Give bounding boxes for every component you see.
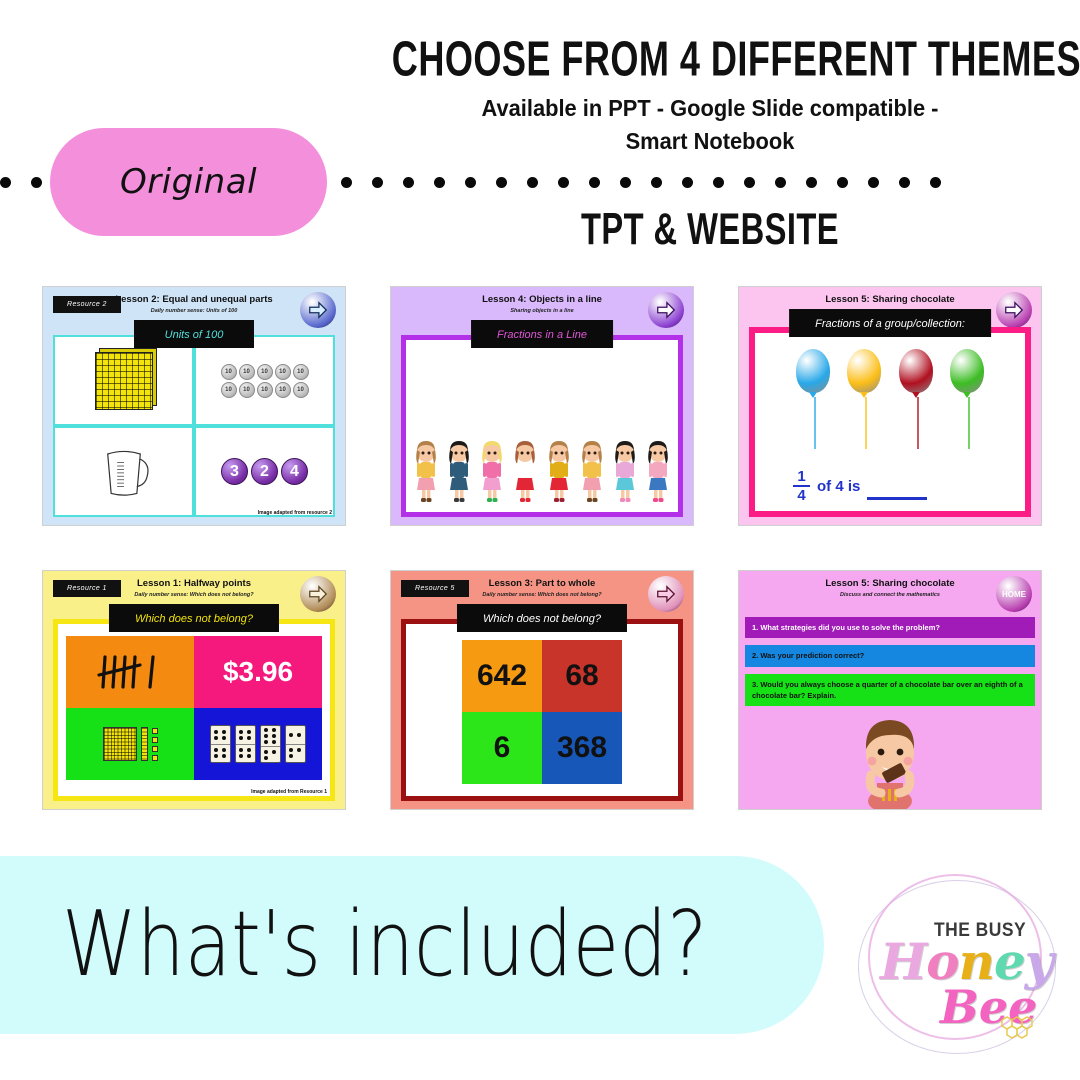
coin-ten: 10 <box>257 364 273 380</box>
domino-pip <box>222 730 226 734</box>
slide-thumbnail[interactable]: Resource 1 Lesson 1: Halfway points Dail… <box>42 570 346 810</box>
quadrant-cell-jug <box>53 426 194 517</box>
coin-group: 10101010101010101010 <box>221 364 309 398</box>
domino-pip <box>264 728 268 732</box>
balloon-body <box>899 349 933 393</box>
quadrant-grid: $3.96 <box>66 636 322 780</box>
unit-cube-icon <box>152 755 158 761</box>
unit-cubes-group <box>152 728 158 761</box>
slide-banner-text: Which does not belong? <box>135 613 253 625</box>
divider-dot <box>713 177 724 188</box>
domino-pip <box>214 730 218 734</box>
fraction-numerator: 1 <box>797 469 805 485</box>
divider-dot <box>465 177 476 188</box>
domino-tile <box>235 725 256 763</box>
divider-dot <box>651 177 662 188</box>
unit-cube-icon <box>152 728 158 734</box>
number-value: 6 <box>494 731 511 765</box>
quadrant-cell-number: 6 <box>462 712 542 784</box>
number-value: 368 <box>557 731 607 765</box>
domino-pip <box>239 730 243 734</box>
domino-pip <box>222 736 226 740</box>
domino-pip <box>247 736 251 740</box>
quadrant-grid: 642 68 6 368 <box>462 640 622 784</box>
quadrant-cell-number-balls: 324 <box>194 426 335 517</box>
coin-ten: 10 <box>239 382 255 398</box>
divider-dot <box>403 177 414 188</box>
divider-dot <box>0 177 11 188</box>
domino-pip <box>214 736 218 740</box>
child-figure <box>611 438 639 504</box>
fraction-one-quarter: 1 4 <box>793 469 810 503</box>
domino-pip <box>222 754 226 758</box>
child-figure <box>445 438 473 504</box>
balloon <box>950 349 988 449</box>
fraction-denominator: 4 <box>797 487 805 503</box>
balloon <box>847 349 885 449</box>
money-value: $3.96 <box>223 656 293 688</box>
slide-banner: Fractions of a group/collection: <box>789 309 991 337</box>
fraction-equation: 1 4 of 4 is <box>793 469 927 503</box>
child-figure <box>578 438 606 504</box>
domino-half <box>236 745 255 763</box>
balloon <box>796 349 834 449</box>
quadrant-cell-number: 642 <box>462 640 542 712</box>
quadrant-cell-flat-block <box>53 335 194 426</box>
whats-included-text: What's included? <box>62 893 707 997</box>
child-figure <box>511 438 539 504</box>
domino-half <box>261 726 280 747</box>
slide-title: Lesson 2: Equal and unequal parts <box>43 294 345 305</box>
divider-dot <box>434 177 445 188</box>
divider-dot <box>620 177 631 188</box>
slide-banner: Which does not belong? <box>457 604 627 632</box>
slide-thumbnail[interactable]: Lesson 5: Sharing chocolate Discuss and … <box>738 570 1042 810</box>
coin-ten: 10 <box>239 364 255 380</box>
domino-pip <box>272 750 276 754</box>
unit-cube-icon <box>152 737 158 743</box>
slide-banner-text: Units of 100 <box>165 329 224 341</box>
brand-logo: THE BUSY Honey Bee <box>852 872 1070 1072</box>
boy-eating-chocolate-illustration <box>851 705 929 809</box>
next-arrow-button[interactable] <box>648 292 684 328</box>
whats-included-banner: What's included? <box>0 856 824 1034</box>
domino-pip <box>264 734 268 738</box>
domino-pip <box>247 730 251 734</box>
domino-pip <box>264 750 268 754</box>
unit-cube-icon <box>152 746 158 752</box>
slide-title: Lesson 5: Sharing chocolate <box>739 578 1041 589</box>
slide-banner: Units of 100 <box>134 320 254 348</box>
quadrant-grid: 10101010101010101010 <box>53 335 335 517</box>
theme-badge-original[interactable]: Original <box>50 128 327 236</box>
domino-tile <box>260 725 281 763</box>
balloon-group <box>789 349 995 449</box>
coin-ten: 10 <box>221 382 237 398</box>
balloon-body <box>847 349 881 393</box>
domino-pip <box>239 754 243 758</box>
arrow-right-icon <box>307 299 329 321</box>
domino-pip <box>297 733 301 737</box>
slide-board: 642 68 6 368 <box>401 619 683 801</box>
ten-rod-icon <box>141 727 148 761</box>
coin-ten: 10 <box>275 364 291 380</box>
balloon-body <box>950 349 984 393</box>
divider-dot <box>31 177 42 188</box>
slide-thumbnail[interactable]: Resource 2 Lesson 2: Equal and unequal p… <box>42 286 346 526</box>
coin-ten: 10 <box>257 382 273 398</box>
slide-credit: Image adapted from resource 2 <box>258 510 332 516</box>
coin-ten: 10 <box>293 364 309 380</box>
slide-board <box>401 335 683 517</box>
platforms-title: TPT & WEBSITE <box>392 205 1028 256</box>
divider-dot <box>527 177 538 188</box>
page-title: CHOOSE FROM 4 DIFFERENT THEMES: <box>392 34 1028 84</box>
hundred-flat-icon <box>95 352 153 410</box>
slide-thumbnail[interactable]: Resource 5 Lesson 3: Part to whole Daily… <box>390 570 694 810</box>
domino-half <box>261 747 280 762</box>
honeycomb-icon <box>996 1016 1036 1044</box>
subtitle-line-2: Smart Notebook <box>359 125 1062 158</box>
divider-dot <box>589 177 600 188</box>
divider-dot <box>837 177 848 188</box>
question-bar: 2. Was your prediction correct? <box>745 645 1035 666</box>
divider-dot <box>775 177 786 188</box>
domino-pip <box>289 754 293 758</box>
next-arrow-button[interactable] <box>300 292 336 328</box>
slide-board: 10101010101010101010 <box>53 335 335 517</box>
quadrant-cell-money: $3.96 <box>194 636 322 708</box>
slide-preview-grid: Resource 2 Lesson 2: Equal and unequal p… <box>42 286 1042 810</box>
question-list: 1. What strategies did you use to solve … <box>739 617 1041 809</box>
arrow-right-icon <box>655 299 677 321</box>
header-block: CHOOSE FROM 4 DIFFERENT THEMES: Availabl… <box>340 34 1080 159</box>
slide-title: Lesson 4: Objects in a line <box>391 294 693 305</box>
slide-title: Lesson 5: Sharing chocolate <box>739 294 1041 305</box>
quadrant-cell-coins: 10101010101010101010 <box>194 335 335 426</box>
answer-blank[interactable] <box>867 497 927 500</box>
next-arrow-button[interactable] <box>996 292 1032 328</box>
domino-pip <box>272 728 276 732</box>
slide-title: Lesson 3: Part to whole <box>391 578 693 589</box>
domino-half <box>286 726 305 745</box>
coin-ten: 10 <box>293 382 309 398</box>
home-button[interactable]: HOME <box>996 576 1032 612</box>
logo-letter: H <box>880 932 926 991</box>
divider-dot <box>372 177 383 188</box>
divider-dot <box>496 177 507 188</box>
balloon-body <box>796 349 830 393</box>
subtitle-line-1: Available in PPT - Google Slide compatib… <box>359 92 1062 125</box>
slide-banner-text: Fractions of a group/collection: <box>815 318 965 330</box>
domino-pip <box>214 748 218 752</box>
divider-dot <box>868 177 879 188</box>
domino-pip <box>272 734 276 738</box>
domino-pip <box>214 754 218 758</box>
quadrant-cell-number: 68 <box>542 640 622 712</box>
home-button-label: HOME <box>1002 590 1026 599</box>
number-value: 642 <box>477 659 527 693</box>
question-bar: 3. Would you always choose a quarter of … <box>745 674 1035 707</box>
domino-pip <box>264 740 268 744</box>
theme-badge-label: Original <box>120 162 257 202</box>
tally-marks-icon <box>95 651 165 693</box>
number-ball: 3 <box>221 458 248 485</box>
slide-thumbnail[interactable]: Lesson 5: Sharing chocolate Fractions of… <box>738 286 1042 526</box>
divider-dot <box>341 177 352 188</box>
child-figure <box>644 438 672 504</box>
child-figure <box>412 438 440 504</box>
slide-board: 1 4 of 4 is <box>749 327 1031 517</box>
domino-pip <box>239 748 243 752</box>
balloon-string <box>865 397 867 449</box>
coin-ten: 10 <box>275 382 291 398</box>
balloon <box>899 349 937 449</box>
arrow-right-icon <box>655 583 677 605</box>
arrow-right-icon <box>307 583 329 605</box>
slide-header: Lesson 5: Sharing chocolate Discuss and … <box>739 571 1041 615</box>
divider-dot <box>744 177 755 188</box>
domino-pip <box>222 748 226 752</box>
question-bars: 1. What strategies did you use to solve … <box>739 617 1041 706</box>
quadrant-cell-tally <box>66 636 194 708</box>
children-row <box>412 438 672 504</box>
domino-half <box>211 726 230 745</box>
domino-pip <box>272 740 276 744</box>
slide-banner-text: Which does not belong? <box>483 613 601 625</box>
divider-dot <box>682 177 693 188</box>
base-ten-blocks-icon <box>103 727 158 761</box>
number-ball: 4 <box>281 458 308 485</box>
question-bar: 1. What strategies did you use to solve … <box>745 617 1035 638</box>
slide-banner: Which does not belong? <box>109 604 279 632</box>
page-subtitle: Available in PPT - Google Slide compatib… <box>359 92 1062 159</box>
slide-board: $3.96 <box>53 619 335 801</box>
divider-dot <box>806 177 817 188</box>
domino-pip <box>239 736 243 740</box>
fraction-equation-text: of 4 is <box>817 478 860 495</box>
domino-tile <box>210 725 231 763</box>
balloon-string <box>968 397 970 449</box>
domino-pip <box>289 748 293 752</box>
hundred-flat-icon <box>103 727 137 761</box>
coin-ten: 10 <box>221 364 237 380</box>
quadrant-cell-dominoes <box>194 708 322 780</box>
domino-pip <box>264 756 268 760</box>
next-arrow-button[interactable] <box>648 576 684 612</box>
divider-dot <box>558 177 569 188</box>
domino-pip <box>247 748 251 752</box>
domino-pip <box>297 748 301 752</box>
quadrant-cell-number: 368 <box>542 712 622 784</box>
next-arrow-button[interactable] <box>300 576 336 612</box>
domino-half <box>286 745 305 763</box>
domino-half <box>211 745 230 763</box>
slide-title: Lesson 1: Halfway points <box>43 578 345 589</box>
child-figure <box>545 438 573 504</box>
domino-pip <box>247 754 251 758</box>
domino-tile <box>285 725 306 763</box>
number-ball: 2 <box>251 458 278 485</box>
balloon-string <box>917 397 919 449</box>
quadrant-cell-base-ten <box>66 708 194 780</box>
number-value: 68 <box>565 659 598 693</box>
divider-dot <box>899 177 910 188</box>
balloon-string <box>814 397 816 449</box>
slide-thumbnail[interactable]: Lesson 4: Objects in a line Sharing obje… <box>390 286 694 526</box>
domino-group <box>210 725 306 763</box>
domino-pip <box>289 733 293 737</box>
child-figure <box>478 438 506 504</box>
number-ball-group: 324 <box>221 458 308 485</box>
divider-dot <box>930 177 941 188</box>
slide-credit: Image adapted from Resource 1 <box>251 789 327 795</box>
slide-banner-text: Fractions in a Line <box>497 329 587 341</box>
measuring-jug-icon <box>94 442 154 502</box>
domino-half <box>236 726 255 745</box>
slide-inner-frame <box>401 335 683 517</box>
slide-banner: Fractions in a Line <box>471 320 613 348</box>
arrow-right-icon <box>1003 299 1025 321</box>
